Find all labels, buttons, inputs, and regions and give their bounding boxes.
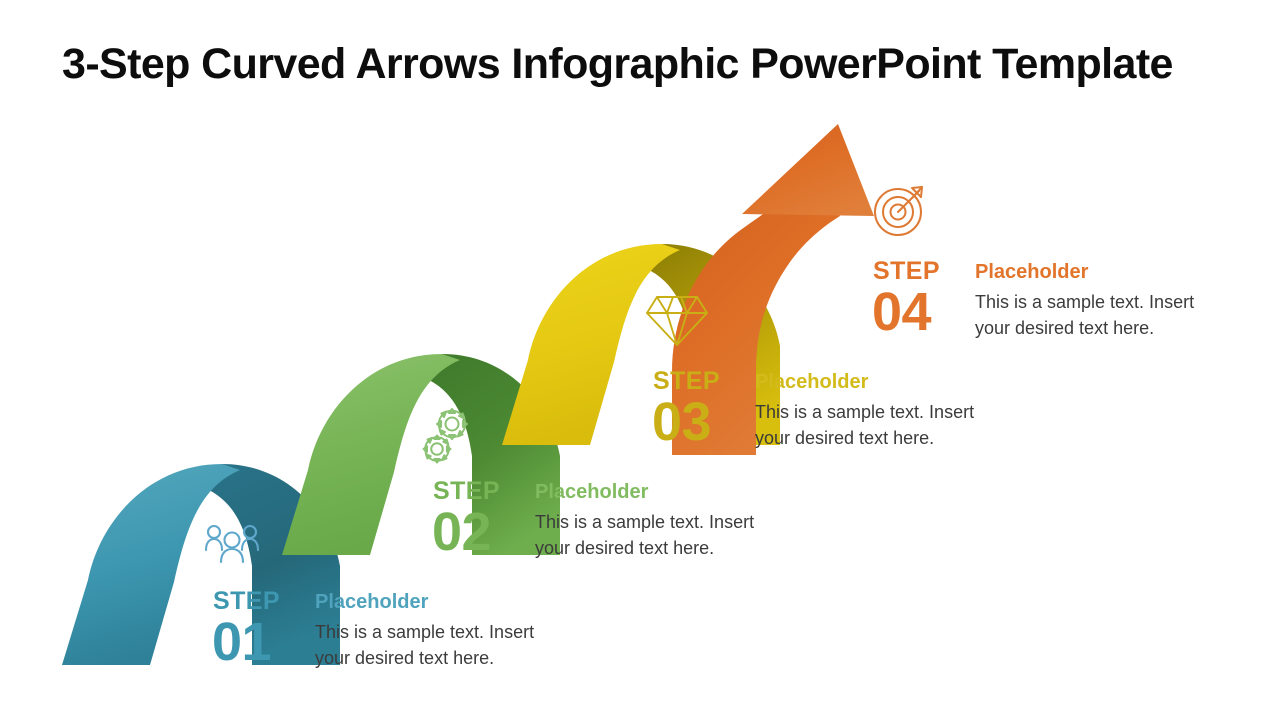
slide-canvas: 3-Step Curved Arrows Infographic PowerPo… [0,0,1280,720]
step-04-heading: Placeholder [975,262,1088,282]
step-block-04: STEP 04 Placeholder This is a sample tex… [0,0,1280,720]
step-04-body: This is a sample text. Insert your desir… [975,290,1225,341]
step-04-number: 04 [872,285,931,339]
step-04-word: STEP [873,259,940,284]
